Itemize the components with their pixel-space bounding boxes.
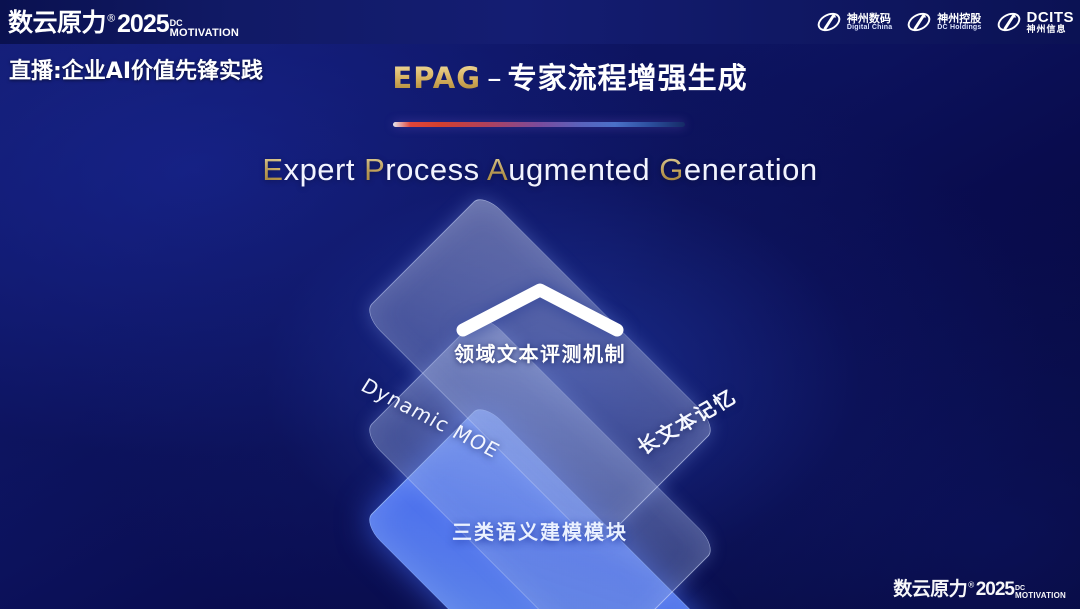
- partner-name-en: DCITS: [1027, 10, 1075, 25]
- partner-text-dc-holdings: 神州控股 DC Holdings: [937, 13, 981, 32]
- live-broadcast-subtitle: 直播:企业AI价值先锋实践: [9, 53, 263, 85]
- brand-logo-dcm: DC MOTIVATION: [170, 19, 239, 38]
- brand-logo-year: 2025: [117, 10, 169, 39]
- swoosh-logo-icon: [996, 9, 1022, 35]
- subtitle-word-expert: Expert: [262, 152, 355, 187]
- partner-name-en: DC Holdings: [937, 24, 981, 31]
- partner-name-en: Digital China: [847, 24, 892, 31]
- watermark-logo-registered: ®: [967, 581, 974, 590]
- subtitle-word-generation: Generation: [659, 152, 817, 187]
- chevron-up-icon: [455, 278, 625, 338]
- swoosh-logo-icon: [906, 9, 932, 35]
- brand-logo: 数云原力® 2025 DC MOTIVATION: [8, 3, 239, 39]
- gradient-divider: [393, 122, 685, 127]
- swoosh-logo-icon: [816, 9, 842, 35]
- partner-logo-group: 神州数码 Digital China 神州控股 DC Holdings: [816, 6, 1074, 38]
- page-title-chinese: 专家流程增强生成: [508, 61, 748, 95]
- partner-name-cn: 神州数码: [847, 13, 892, 25]
- page-title-dash: –: [487, 61, 502, 95]
- brand-logo-cn: 数云原力®: [8, 3, 116, 39]
- english-subtitle: Expert Process Augmented Generation: [0, 152, 1080, 188]
- partner-name-cn: 神州信息: [1027, 25, 1075, 34]
- subtitle-word-process: Process: [364, 152, 480, 187]
- partner-text-digital-china: 神州数码 Digital China: [847, 13, 892, 32]
- partner-logo-digital-china: 神州数码 Digital China: [816, 9, 892, 35]
- watermark-logo-motivation: MOTIVATION: [1015, 592, 1066, 600]
- partner-logo-dc-holdings: 神州控股 DC Holdings: [906, 9, 981, 35]
- partner-logo-dcits: DCITS 神州信息: [996, 9, 1075, 35]
- watermark-logo-cn: 数云原力®: [893, 574, 974, 601]
- brand-logo-registered: ®: [106, 13, 116, 25]
- diagram-layer-top[interactable]: [374, 204, 706, 536]
- layer-stack-diagram: 领域文本评测机制 Dynamic MOE 长文本记忆 三类语义建模模块: [273, 228, 807, 573]
- diagram-layer-top-plate: [362, 192, 718, 548]
- subtitle-word-augmented: Augmented: [487, 152, 650, 187]
- brand-logo-motivation: MOTIVATION: [170, 28, 239, 38]
- partner-text-dcits: DCITS 神州信息: [1027, 10, 1075, 34]
- watermark-logo-dcm: DC MOTIVATION: [1015, 586, 1066, 600]
- watermark-logo-year: 2025: [976, 579, 1014, 601]
- partner-name-cn: 神州控股: [937, 13, 981, 25]
- watermark-logo: 数云原力® 2025 DC MOTIVATION: [893, 574, 1066, 601]
- slide-canvas: 数云原力® 2025 DC MOTIVATION 神州数码 Digital Ch…: [0, 0, 1080, 609]
- page-title-acronym: EPAG: [392, 61, 481, 95]
